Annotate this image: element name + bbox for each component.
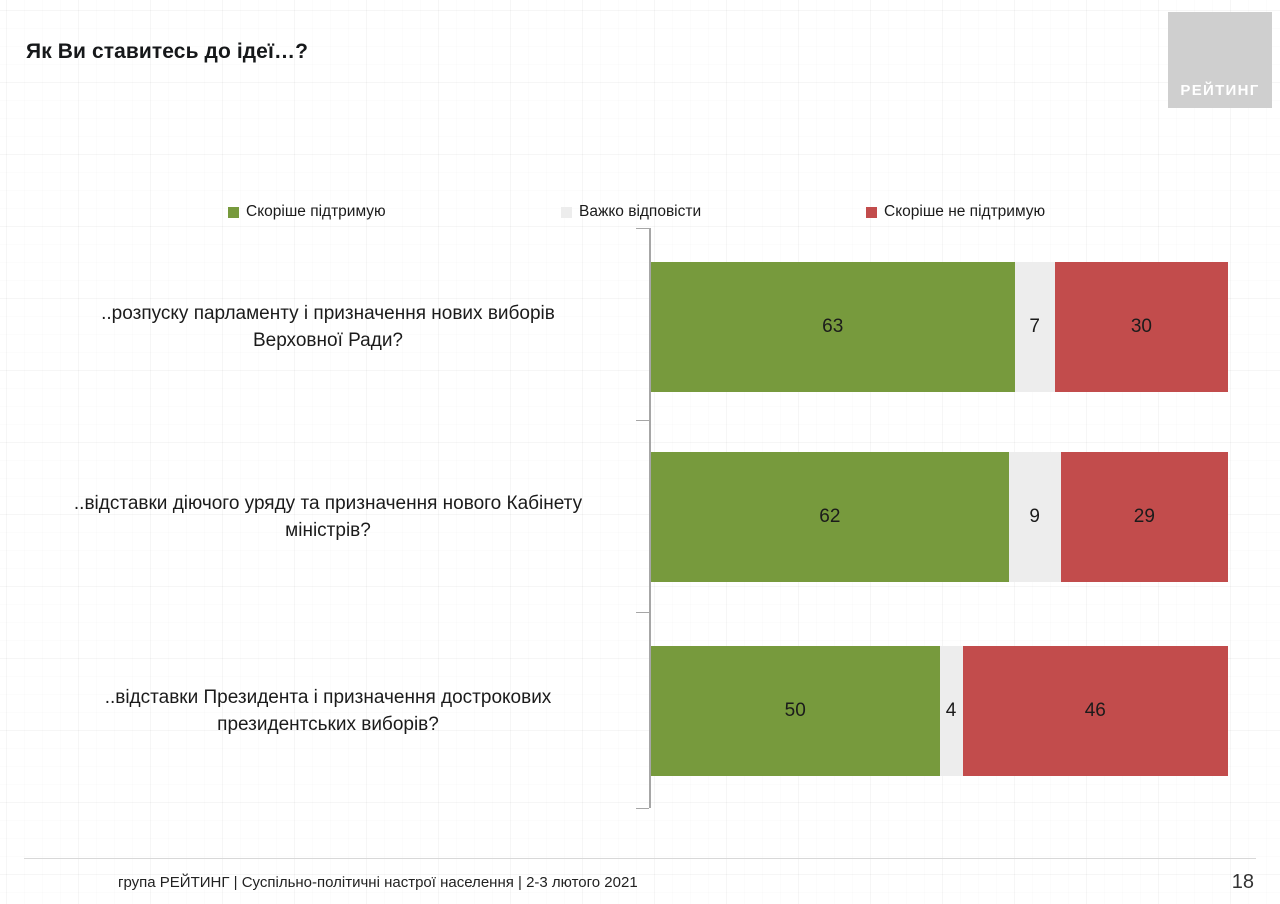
logo-label: РЕЙТИНГ bbox=[1180, 82, 1259, 99]
legend-item-support: Скоріше підтримую bbox=[228, 203, 386, 221]
legend-label-not-support: Скоріше не підтримую bbox=[884, 203, 1045, 221]
legend-swatch-support bbox=[228, 207, 239, 218]
page-title: Як Ви ставитесь до ідеї…? bbox=[26, 40, 308, 64]
legend-item-hard-to-answer: Важко відповісти bbox=[561, 203, 701, 221]
legend-swatch-hard-to-answer bbox=[561, 207, 572, 218]
page-number: 18 bbox=[1232, 871, 1254, 894]
footer-divider bbox=[24, 858, 1256, 859]
legend-label-support: Скоріше підтримую bbox=[246, 203, 386, 221]
footer-source: група РЕЙТИНГ | Суспільно-політичні наст… bbox=[118, 874, 638, 891]
slide-background bbox=[0, 0, 1280, 904]
legend-label-hard-to-answer: Важко відповісти bbox=[579, 203, 701, 221]
chart-legend: Скоріше підтримую Важко відповісти Скорі… bbox=[228, 203, 1098, 223]
legend-item-not-support: Скоріше не підтримую bbox=[866, 203, 1045, 221]
rating-logo: РЕЙТИНГ bbox=[1168, 12, 1272, 108]
legend-swatch-not-support bbox=[866, 207, 877, 218]
